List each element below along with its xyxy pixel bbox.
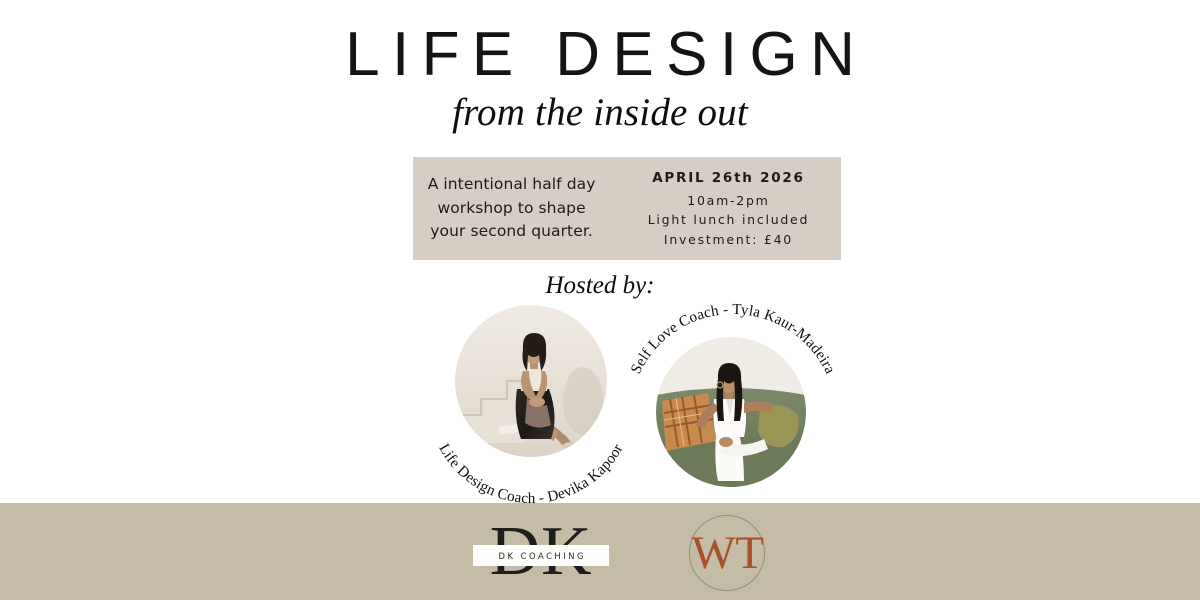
host-right-photo-image xyxy=(656,337,806,487)
host-photo-tyla-kaur-madeira xyxy=(656,337,806,487)
logo-wt: WT xyxy=(681,513,774,593)
page-title: LIFE DESIGN xyxy=(0,22,1200,87)
logo-dk-coaching: DK DK COACHING xyxy=(479,509,603,595)
page-subtitle: from the inside out xyxy=(0,92,1200,135)
workshop-description: A intentional half day workshop to shape… xyxy=(413,173,614,244)
event-inclusion: Light lunch included xyxy=(614,210,841,229)
host-photo-devika-kapoor xyxy=(455,305,607,457)
event-price: Investment: £40 xyxy=(614,230,841,249)
event-time: 10am-2pm xyxy=(614,191,841,210)
description-line-1: A intentional half day xyxy=(413,173,610,197)
workshop-details: APRIL 26th 2026 10am-2pm Light lunch inc… xyxy=(614,168,841,249)
wt-monogram: WT xyxy=(681,513,774,593)
hosted-by-heading: Hosted by: xyxy=(0,272,1200,300)
event-poster: LIFE DESIGN from the inside out A intent… xyxy=(0,0,1200,600)
workshop-info-box: A intentional half day workshop to shape… xyxy=(413,157,841,260)
description-line-2: workshop to shape xyxy=(413,197,610,221)
description-line-3: your second quarter. xyxy=(413,220,610,244)
host-left-photo-image xyxy=(455,305,607,457)
dk-band: DK COACHING xyxy=(473,545,609,566)
event-date: APRIL 26th 2026 xyxy=(614,168,841,191)
dk-band-text: DK COACHING xyxy=(496,551,586,561)
